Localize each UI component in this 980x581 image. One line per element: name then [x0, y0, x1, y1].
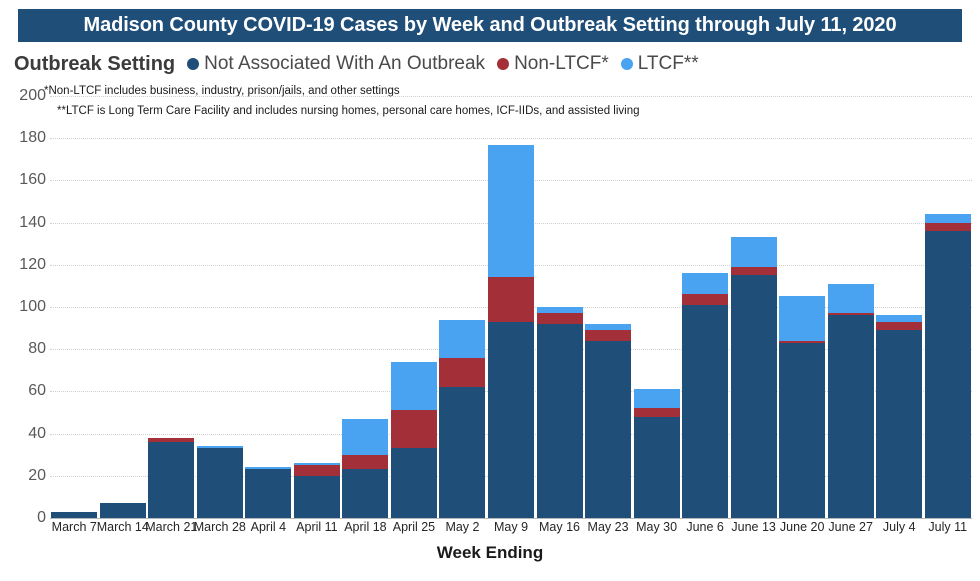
- bar-segment[interactable]: [779, 343, 825, 518]
- bar-series-container: [50, 0, 972, 581]
- y-axis-tick-40: 40: [2, 425, 46, 443]
- bar-group[interactable]: [634, 389, 680, 518]
- bar-segment[interactable]: [731, 237, 777, 267]
- x-axis-tick-label: June 27: [828, 520, 872, 534]
- y-axis-tick-80: 80: [2, 340, 46, 358]
- x-axis-title: Week Ending: [0, 543, 980, 563]
- bar-group[interactable]: [342, 419, 388, 518]
- bar-segment[interactable]: [51, 512, 97, 518]
- x-axis-tick-label: May 30: [636, 520, 677, 534]
- y-axis-tick-140: 140: [2, 214, 46, 232]
- bar-segment[interactable]: [828, 315, 874, 518]
- chart-page: Madison County COVID-19 Cases by Week an…: [0, 0, 980, 581]
- bar-segment[interactable]: [876, 330, 922, 518]
- x-axis-tick-label: April 11: [296, 520, 337, 534]
- bar-segment[interactable]: [245, 469, 291, 518]
- bar-group[interactable]: [682, 273, 728, 518]
- bar-group[interactable]: [197, 446, 243, 518]
- bar-segment[interactable]: [294, 463, 340, 465]
- bar-group[interactable]: [585, 324, 631, 518]
- bar-segment[interactable]: [439, 387, 485, 518]
- bar-group[interactable]: [148, 438, 194, 518]
- x-axis-tick-label: March 14: [97, 520, 149, 534]
- bar-segment[interactable]: [342, 419, 388, 455]
- x-axis-tick-label: July 11: [928, 520, 967, 534]
- bar-segment[interactable]: [585, 324, 631, 330]
- bar-segment[interactable]: [828, 313, 874, 315]
- bar-segment[interactable]: [294, 465, 340, 476]
- bar-segment[interactable]: [488, 277, 534, 321]
- x-axis-tick-label: May 2: [445, 520, 479, 534]
- bar-segment[interactable]: [391, 362, 437, 411]
- x-axis-tick-label: June 20: [780, 520, 824, 534]
- bar-segment[interactable]: [925, 231, 971, 518]
- y-axis-tick-20: 20: [2, 467, 46, 485]
- bar-segment[interactable]: [682, 294, 728, 305]
- x-axis-tick-label: May 23: [588, 520, 629, 534]
- bar-group[interactable]: [51, 512, 97, 518]
- bar-segment[interactable]: [682, 305, 728, 518]
- x-axis-tick-label: April 25: [393, 520, 435, 534]
- y-axis-labels: 020406080100120140160180200: [0, 0, 46, 581]
- bar-group[interactable]: [245, 467, 291, 518]
- bar-segment[interactable]: [342, 469, 388, 518]
- bar-segment[interactable]: [779, 341, 825, 343]
- bar-segment[interactable]: [391, 410, 437, 448]
- bar-segment[interactable]: [100, 503, 146, 518]
- bar-segment[interactable]: [731, 267, 777, 275]
- bar-group[interactable]: [779, 296, 825, 518]
- bar-segment[interactable]: [585, 330, 631, 341]
- x-axis-tick-label: March 7: [52, 520, 97, 534]
- bar-segment[interactable]: [634, 408, 680, 416]
- bar-segment[interactable]: [439, 320, 485, 358]
- y-axis-tick-200: 200: [2, 87, 46, 105]
- bar-segment[interactable]: [634, 417, 680, 518]
- x-axis-tick-label: April 4: [251, 520, 286, 534]
- y-axis-tick-100: 100: [2, 298, 46, 316]
- bar-segment[interactable]: [342, 455, 388, 470]
- bar-segment[interactable]: [876, 315, 922, 321]
- x-axis-tick-label: May 16: [539, 520, 580, 534]
- bar-segment[interactable]: [148, 442, 194, 518]
- bar-segment[interactable]: [488, 322, 534, 518]
- bar-segment[interactable]: [925, 214, 971, 222]
- bar-group[interactable]: [294, 463, 340, 518]
- x-axis-tick-label: April 18: [344, 520, 386, 534]
- bar-segment[interactable]: [925, 223, 971, 231]
- bar-group[interactable]: [828, 284, 874, 518]
- bar-segment[interactable]: [488, 145, 534, 278]
- bar-group[interactable]: [876, 315, 922, 518]
- x-axis-tick-label: June 13: [731, 520, 775, 534]
- bar-segment[interactable]: [537, 324, 583, 518]
- bar-segment[interactable]: [828, 284, 874, 314]
- bar-segment[interactable]: [245, 467, 291, 469]
- bar-segment[interactable]: [779, 296, 825, 340]
- bar-segment[interactable]: [634, 389, 680, 408]
- bar-group[interactable]: [537, 307, 583, 518]
- x-axis-tick-label: July 4: [883, 520, 916, 534]
- bar-segment[interactable]: [197, 448, 243, 518]
- x-axis-tick-label: June 6: [686, 520, 724, 534]
- bar-group[interactable]: [731, 237, 777, 518]
- bar-segment[interactable]: [197, 446, 243, 448]
- bar-group[interactable]: [100, 503, 146, 518]
- bar-segment[interactable]: [731, 275, 777, 518]
- bar-segment[interactable]: [148, 438, 194, 442]
- y-axis-tick-180: 180: [2, 129, 46, 147]
- plot-area: 020406080100120140160180200 March 7March…: [0, 0, 980, 581]
- bar-segment[interactable]: [876, 322, 922, 330]
- y-axis-tick-120: 120: [2, 256, 46, 274]
- y-axis-tick-0: 0: [2, 509, 46, 527]
- bar-segment[interactable]: [537, 307, 583, 313]
- bar-group[interactable]: [391, 362, 437, 518]
- bar-segment[interactable]: [439, 358, 485, 388]
- y-axis-tick-60: 60: [2, 382, 46, 400]
- x-axis-tick-label: March 28: [194, 520, 246, 534]
- x-axis-tick-label: March 21: [145, 520, 197, 534]
- y-axis-tick-160: 160: [2, 171, 46, 189]
- x-axis-tick-label: May 9: [494, 520, 528, 534]
- bar-segment[interactable]: [391, 448, 437, 518]
- bar-segment[interactable]: [537, 313, 583, 324]
- bar-group[interactable]: [488, 145, 534, 518]
- bar-segment[interactable]: [585, 341, 631, 518]
- bar-group[interactable]: [439, 320, 485, 518]
- bar-segment[interactable]: [294, 476, 340, 518]
- bar-group[interactable]: [925, 214, 971, 518]
- bar-segment[interactable]: [682, 273, 728, 294]
